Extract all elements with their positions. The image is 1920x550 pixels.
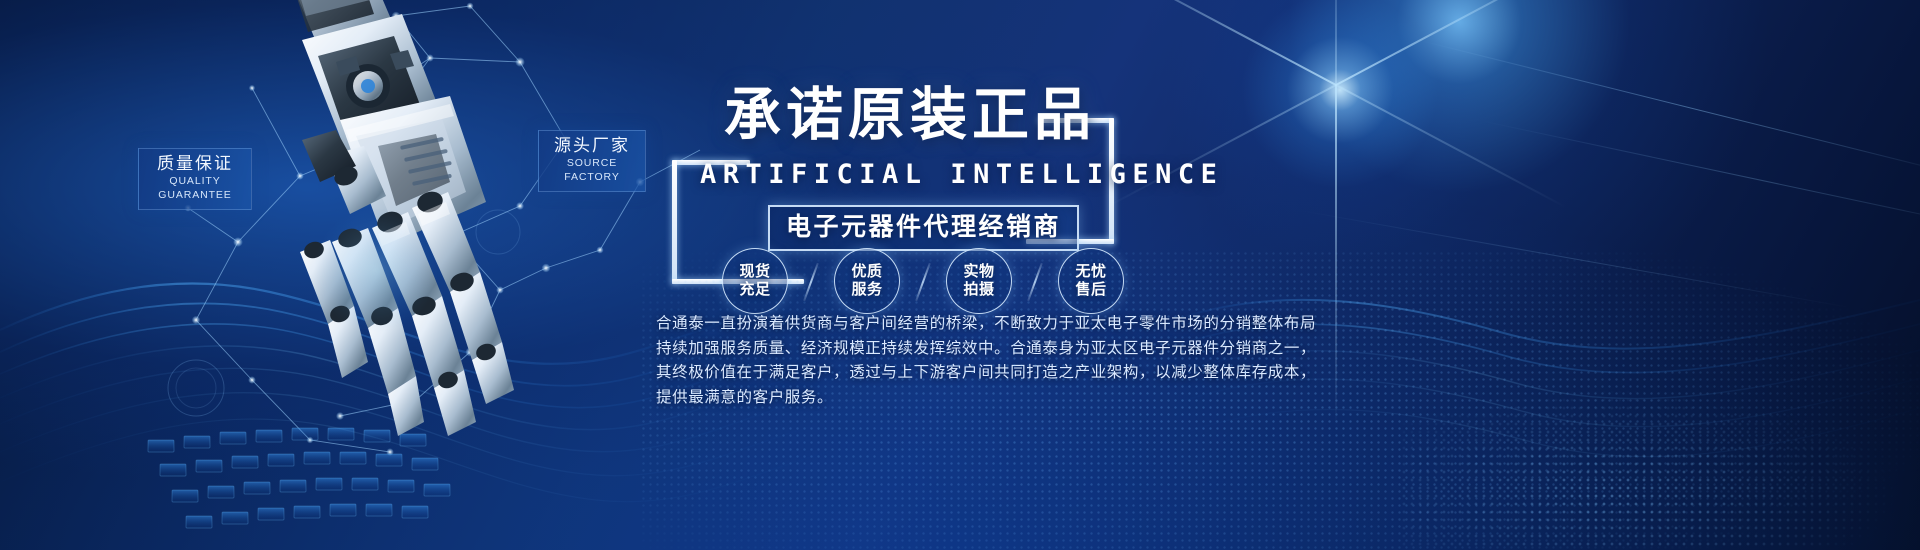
page-title: 承诺原装正品 <box>724 84 1096 146</box>
badge-divider <box>803 263 819 301</box>
headline-english: ARTIFICIAL INTELLIGENCE <box>700 160 1223 190</box>
badge-line2: 服务 <box>851 281 882 299</box>
tag-quality-guarantee: 质量保证 QUALITY GUARANTEE <box>138 148 252 210</box>
light-ray-icon <box>1335 0 1337 85</box>
light-ray-icon <box>1336 84 1567 208</box>
badge-real-photo[interactable]: 实物 拍摄 <box>946 248 1012 314</box>
badge-line1: 无忧 <box>1075 263 1106 281</box>
subtitle-text: 电子元器件代理经销商 <box>786 213 1061 241</box>
light-streak <box>1300 210 1852 308</box>
badge-line2: 售后 <box>1075 281 1106 299</box>
light-streak <box>1420 40 1920 176</box>
light-streak <box>1480 120 1920 237</box>
badge-divider <box>1027 263 1043 301</box>
badge-line1: 现货 <box>739 263 770 281</box>
badge-line2: 充足 <box>739 281 770 299</box>
bracket-segment <box>672 160 677 284</box>
badge-line1: 实物 <box>963 263 994 281</box>
hero-banner: 质量保证 QUALITY GUARANTEE 源头厂家 SOURCE FACTO… <box>0 0 1920 550</box>
badge-divider <box>915 263 931 301</box>
light-ray-icon <box>1071 0 1337 86</box>
body-line: 合通泰一直扮演着供货商与客户间经营的桥梁，不断致力于亚太电子零件市场的分销整体布… <box>656 312 1316 337</box>
subtitle-box: 电子元器件代理经销商 <box>768 205 1079 251</box>
badge-stock-sufficient[interactable]: 现货 充足 <box>722 248 788 314</box>
light-ray-icon <box>1335 85 1337 425</box>
body-copy: 合通泰一直扮演着供货商与客户间经营的桥梁，不断致力于亚太电子零件市场的分销整体布… <box>656 312 1316 410</box>
tag-factory-cn: 源头厂家 <box>551 136 633 156</box>
feature-badge-row: 现货 充足 优质 服务 实物 拍摄 无忧 售后 <box>722 248 1242 316</box>
badge-worry-free-after-sales[interactable]: 无忧 售后 <box>1058 248 1124 314</box>
badge-quality-service[interactable]: 优质 服务 <box>834 248 900 314</box>
body-line: 其终极价值在于满足客户，透过与上下游客户间共同打造之产业架构，以减少整体库存成本… <box>656 361 1316 386</box>
tag-quality-cn: 质量保证 <box>151 154 239 174</box>
tag-factory-en: SOURCE FACTORY <box>551 156 633 184</box>
tag-quality-en: QUALITY GUARANTEE <box>151 174 239 202</box>
halftone-dots <box>1400 380 1920 550</box>
robotic-hand-reaching <box>150 0 630 450</box>
body-line: 持续加强服务质量、经济规模正持续发挥综效中。合通泰身为亚太区电子元器件分销商之一… <box>656 337 1316 362</box>
badge-line2: 拍摄 <box>963 281 994 299</box>
light-ray-icon <box>1336 0 1602 86</box>
badge-line1: 优质 <box>851 263 882 281</box>
tag-source-factory: 源头厂家 SOURCE FACTORY <box>538 130 646 192</box>
body-line: 提供最满意的客户服务。 <box>656 386 1316 411</box>
